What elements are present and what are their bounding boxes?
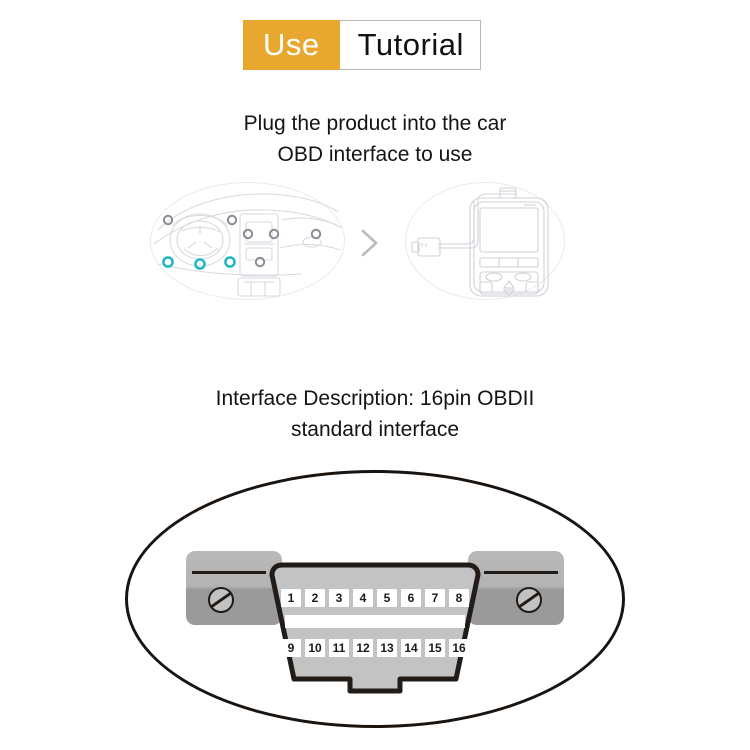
pin-2: 2 <box>305 589 325 607</box>
step-one-caption: Plug the product into the car OBD interf… <box>0 108 750 170</box>
step-one-illustrations <box>0 180 750 320</box>
header-badge-use: Use <box>243 20 340 70</box>
pin-16: 16 <box>449 639 469 657</box>
pin-6: 6 <box>401 589 421 607</box>
pin-7: 7 <box>425 589 445 607</box>
handheld-obd-scanner-illustration <box>410 186 562 298</box>
pin-15: 15 <box>425 639 445 657</box>
pin-12: 12 <box>353 639 373 657</box>
pin-row-bottom: 9 10 11 12 13 14 15 16 <box>281 639 469 657</box>
dashboard-marker-inactive-group <box>164 216 320 266</box>
car-dashboard-illustration <box>152 186 344 298</box>
pin-5: 5 <box>377 589 397 607</box>
obd2-connector-figure: 1 2 3 4 5 6 7 8 9 10 11 12 13 14 15 16 <box>0 455 750 750</box>
step-one-caption-line-1: Plug the product into the car <box>0 108 750 139</box>
pin-3: 3 <box>329 589 349 607</box>
pin-1: 1 <box>281 589 301 607</box>
screw-slot-left <box>209 591 232 608</box>
step-two-caption-line-1: Interface Description: 16pin OBDII <box>0 383 750 414</box>
chevron-right-icon <box>360 228 380 258</box>
pin-row-top: 1 2 3 4 5 6 7 8 <box>281 589 469 607</box>
step-one-caption-line-2: OBD interface to use <box>0 139 750 170</box>
pin-13: 13 <box>377 639 397 657</box>
flange-screw-right <box>516 587 542 613</box>
header-banner: Use Tutorial <box>243 20 481 70</box>
screw-slot-right <box>517 591 540 608</box>
pin-10: 10 <box>305 639 325 657</box>
step-two-caption-line-2: standard interface <box>0 414 750 445</box>
obd2-connector: 1 2 3 4 5 6 7 8 9 10 11 12 13 14 15 16 <box>186 551 564 697</box>
flange-screw-left <box>208 587 234 613</box>
connector-housing-trapezoid <box>248 561 502 697</box>
pin-9: 9 <box>281 639 301 657</box>
connector-keying-slot <box>285 615 465 628</box>
pin-14: 14 <box>401 639 421 657</box>
header-badge-tutorial: Tutorial <box>340 20 481 70</box>
step-two-caption: Interface Description: 16pin OBDII stand… <box>0 383 750 445</box>
pin-11: 11 <box>329 639 349 657</box>
pin-4: 4 <box>353 589 373 607</box>
pin-8: 8 <box>449 589 469 607</box>
